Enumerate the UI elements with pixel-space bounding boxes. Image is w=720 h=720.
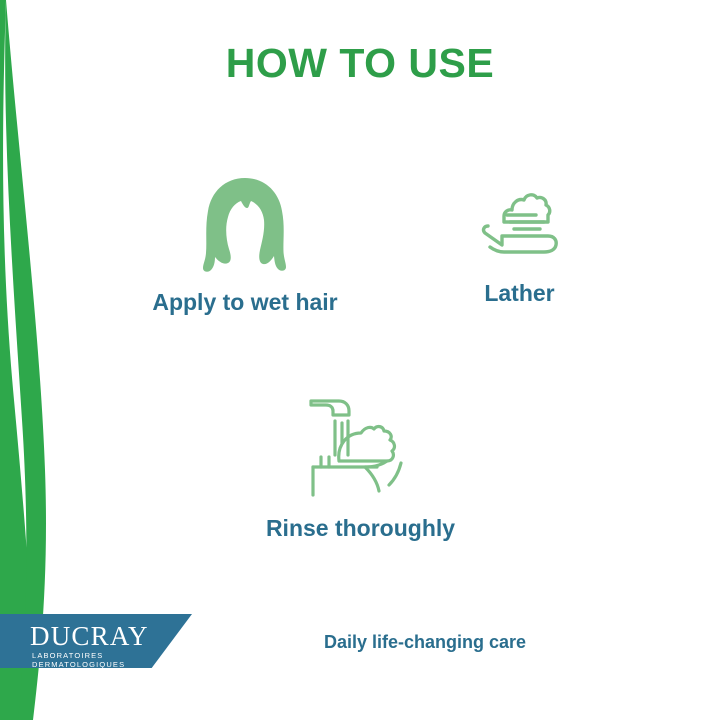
brand-tagline: Daily life-changing care [215, 632, 635, 653]
rinse-hair-under-tap-icon [305, 393, 417, 501]
green-leaf-accent [0, 0, 60, 720]
brand-name: DUCRAY [30, 621, 149, 652]
brand-subtitle: LABORATOIRES DERMATOLOGIQUES [32, 651, 192, 669]
step-lather: Lather [432, 182, 607, 307]
page-title: HOW TO USE [0, 40, 720, 87]
long-hair-icon [197, 175, 293, 275]
ducray-logo-banner: DUCRAY LABORATOIRES DERMATOLOGIQUES [0, 614, 192, 668]
step-label: Rinse thoroughly [238, 515, 483, 542]
how-to-use-infographic: HOW TO USE Apply to wet hair Lather [0, 0, 720, 720]
step-label: Apply to wet hair [115, 289, 375, 316]
step-label: Lather [432, 280, 607, 307]
step-apply-to-wet-hair: Apply to wet hair [115, 175, 375, 316]
hand-with-foam-icon [474, 182, 566, 266]
step-rinse-thoroughly: Rinse thoroughly [238, 393, 483, 542]
